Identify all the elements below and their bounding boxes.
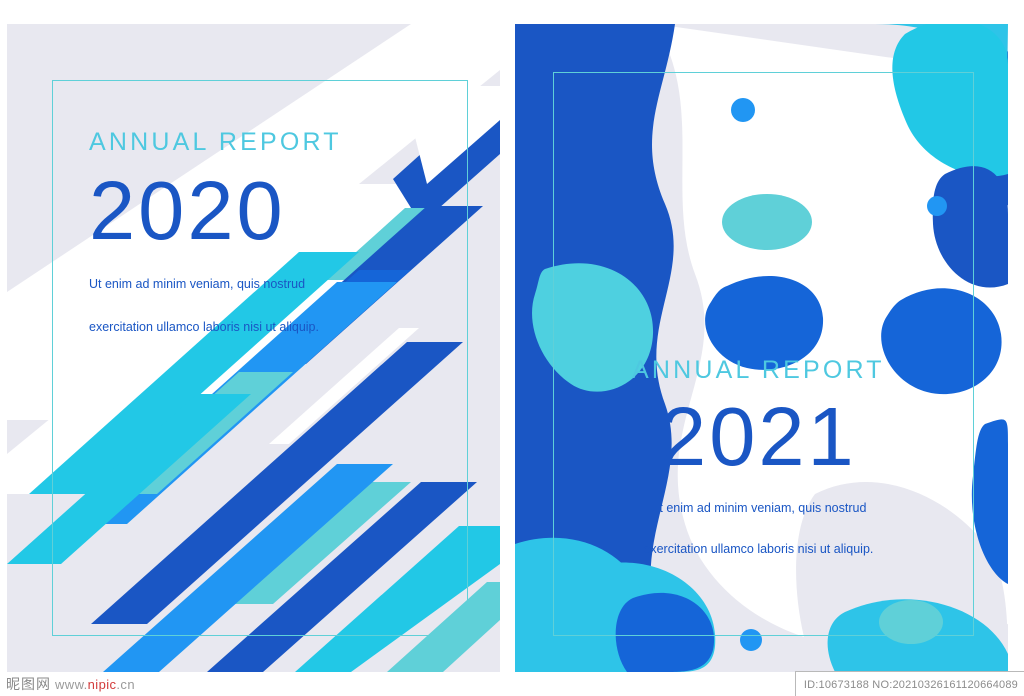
footer-watermark-bar: 昵图网 www.nipic.cn ID:10673188 NO:20210326… (0, 668, 1024, 696)
nipic-logo: 昵图网 (6, 674, 51, 694)
watermark-url-mid: nipic (88, 677, 117, 692)
asset-id-box: ID:10673188 NO:20210326161120664089 (795, 671, 1024, 696)
right-cover-text-block: ANNUAL REPORT 2021 Ut enim ad minim veni… (632, 356, 885, 559)
poster-canvas: ANNUAL REPORT 2020 Ut enim ad minim veni… (0, 0, 1024, 696)
watermark-url-prefix: www. (55, 677, 88, 692)
left-cover-text-block: ANNUAL REPORT 2020 Ut enim ad minim veni… (89, 128, 342, 337)
left-diagonal-artwork (7, 24, 500, 672)
left-annual-report-label: ANNUAL REPORT (89, 128, 342, 157)
watermark-left: 昵图网 www.nipic.cn (6, 674, 135, 694)
cover-left: ANNUAL REPORT 2020 Ut enim ad minim veni… (7, 24, 500, 672)
right-blob-artwork (515, 24, 1008, 672)
left-body-line-1: Ut enim ad minim veniam, quis nostrud (89, 274, 342, 295)
left-body-line-2: exercitation ullamco laboris nisi ut ali… (89, 317, 342, 338)
left-year: 2020 (89, 169, 342, 252)
right-body-line-1: Ut enim ad minim veniam, quis nostrud (632, 498, 885, 519)
right-year: 2021 (632, 395, 885, 478)
watermark-url-suffix: .cn (116, 677, 135, 692)
cover-right (515, 24, 1008, 672)
watermark-url: www.nipic.cn (55, 677, 135, 692)
right-annual-report-label: ANNUAL REPORT (632, 356, 885, 385)
asset-id-text: ID:10673188 NO:20210326161120664089 (804, 679, 1018, 691)
right-body-line-2: exercitation ullamco laboris nisi ut ali… (632, 539, 885, 560)
